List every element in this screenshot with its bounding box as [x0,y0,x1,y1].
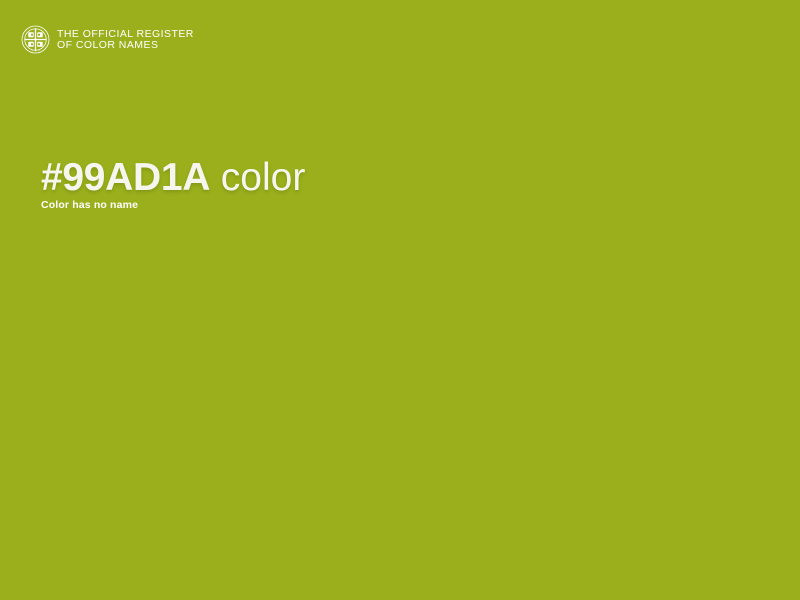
brand-line-2: OF COLOR NAMES [57,40,194,52]
brand-wordmark: THE OFFICIAL REGISTER OF COLOR NAMES [57,28,194,52]
page-title: #99AD1A color [41,154,305,202]
color-page: THE OFFICIAL REGISTER OF COLOR NAMES #99… [0,0,800,600]
color-hex-code: #99AD1A [41,156,210,199]
brand-logo[interactable]: THE OFFICIAL REGISTER OF COLOR NAMES [21,25,194,54]
color-name-status: Color has no name [41,199,138,212]
color-title-suffix: color [221,156,306,199]
register-seal-icon [21,25,50,54]
